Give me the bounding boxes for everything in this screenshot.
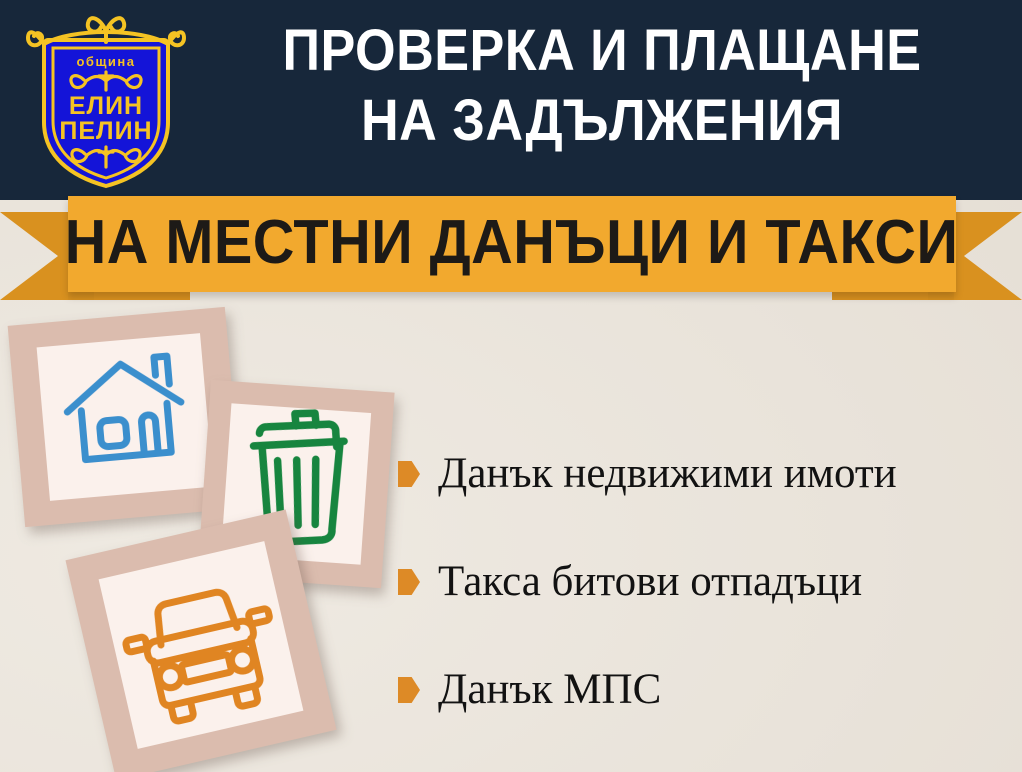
list-item[interactable]: Такса битови отпадъци (398, 528, 1012, 636)
list-item[interactable]: Данък МПС (398, 636, 1012, 744)
header-banner: община ЕЛИН ПЕЛИН (0, 0, 1022, 200)
crest-small-text: община (76, 54, 135, 69)
list-item-label: Данък недвижими имоти (438, 450, 897, 498)
crest-line1: ЕЛИН (69, 92, 143, 120)
ribbon-banner: НА МЕСТНИ ДАНЪЦИ И ТАКСИ (0, 196, 1022, 308)
title-line-2: НА ЗАДЪЛЖЕНИЯ (237, 86, 968, 156)
crest-line2: ПЕЛИН (59, 117, 152, 145)
arrow-bullet-icon (398, 569, 420, 595)
page-title: ПРОВЕРКА И ПЛАЩАНЕ НА ЗАДЪЛЖЕНИЯ (196, 16, 1008, 156)
list-item[interactable]: Данък недвижими имоти (398, 420, 1012, 528)
poster-root: община ЕЛИН ПЕЛИН (0, 0, 1022, 772)
ribbon-label: НА МЕСТНИ ДАНЪЦИ И ТАКСИ (65, 212, 959, 277)
ribbon-band: НА МЕСТНИ ДАНЪЦИ И ТАКСИ (68, 196, 956, 292)
shield-crest-icon: община ЕЛИН ПЕЛИН (22, 4, 190, 192)
arrow-bullet-icon (398, 461, 420, 487)
arrow-bullet-icon (398, 677, 420, 703)
list-item-label: Данък МПС (438, 666, 661, 714)
list-item-label: Такса битови отпадъци (438, 558, 862, 606)
tax-type-list: Данък недвижими имоти Такса битови отпад… (398, 420, 1012, 744)
stamp-group (0, 300, 420, 772)
title-line-1: ПРОВЕРКА И ПЛАЩАНЕ (237, 16, 968, 86)
